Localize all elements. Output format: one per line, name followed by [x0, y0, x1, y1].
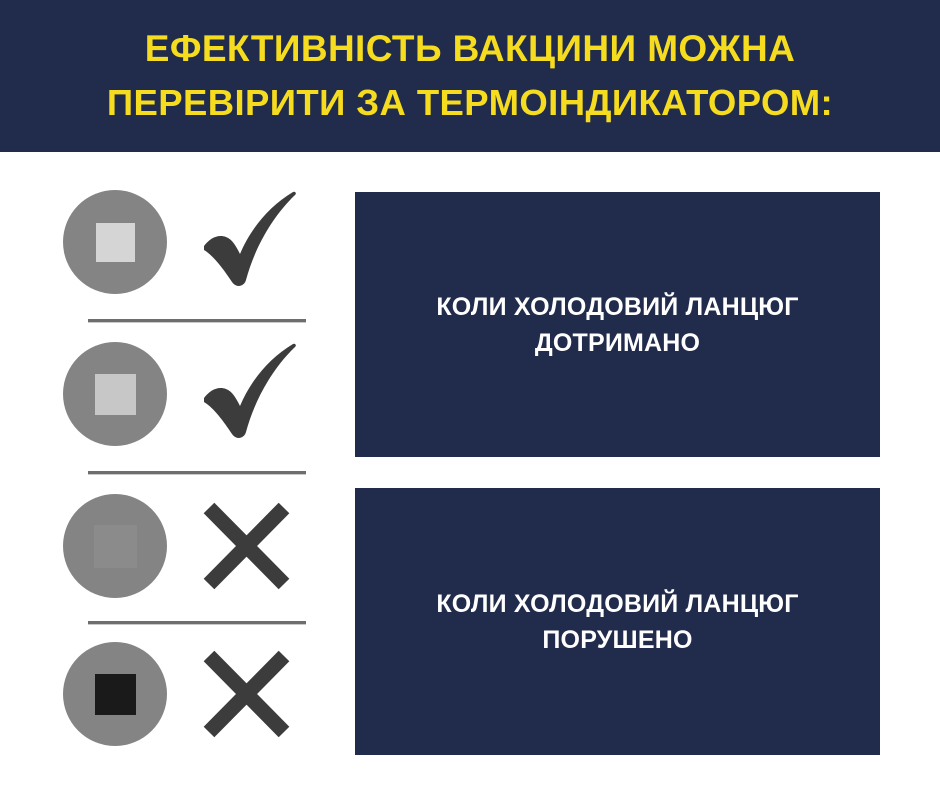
- indicator-row: [0, 180, 350, 310]
- thermo-indicator-dot-icon: [63, 342, 167, 446]
- thermo-indicator-dot-icon: [63, 190, 167, 294]
- message-panel-cold-chain-maintained: КОЛИ ХОЛОДОВИЙ ЛАНЦЮГ ДОТРИМАНО: [355, 192, 880, 457]
- cross-icon: [196, 640, 306, 748]
- indicator-square-icon: [95, 374, 136, 415]
- header-banner: ЕФЕКТИВНІСТЬ ВАКЦИНИ МОЖНА ПЕРЕВІРИТИ ЗА…: [0, 0, 940, 152]
- indicator-legend-column: [0, 152, 350, 788]
- indicator-square-icon: [94, 525, 137, 568]
- panel-text-line-2: ПОРУШЕНО: [542, 626, 692, 654]
- indicator-row: [0, 484, 350, 614]
- check-icon: [196, 340, 306, 448]
- thermo-indicator-dot-icon: [63, 494, 167, 598]
- indicator-row: [0, 632, 350, 762]
- indicator-square-icon: [96, 223, 135, 262]
- indicator-square-icon: [95, 674, 136, 715]
- panel-text-line-2: ДОТРИМАНО: [535, 329, 700, 357]
- cross-icon: [196, 492, 306, 600]
- panel-text-block: КОЛИ ХОЛОДОВИЙ ЛАНЦЮГ ДОТРИМАНО: [436, 289, 798, 361]
- check-icon: [196, 188, 306, 296]
- panel-text-line-1: КОЛИ ХОЛОДОВИЙ ЛАНЦЮГ: [436, 590, 798, 618]
- panel-text-line-1: КОЛИ ХОЛОДОВИЙ ЛАНЦЮГ: [436, 293, 798, 321]
- header-title-line-1: ЕФЕКТИВНІСТЬ ВАКЦИНИ МОЖНА: [145, 22, 795, 76]
- row-divider: [88, 471, 306, 475]
- panel-text-block: КОЛИ ХОЛОДОВИЙ ЛАНЦЮГ ПОРУШЕНО: [436, 586, 798, 658]
- message-panel-cold-chain-broken: КОЛИ ХОЛОДОВИЙ ЛАНЦЮГ ПОРУШЕНО: [355, 488, 880, 755]
- indicator-row: [0, 332, 350, 462]
- header-title-line-2: ПЕРЕВІРИТИ ЗА ТЕРМОІНДИКАТОРОМ:: [107, 76, 833, 130]
- thermo-indicator-dot-icon: [63, 642, 167, 746]
- row-divider: [88, 319, 306, 323]
- row-divider: [88, 621, 306, 625]
